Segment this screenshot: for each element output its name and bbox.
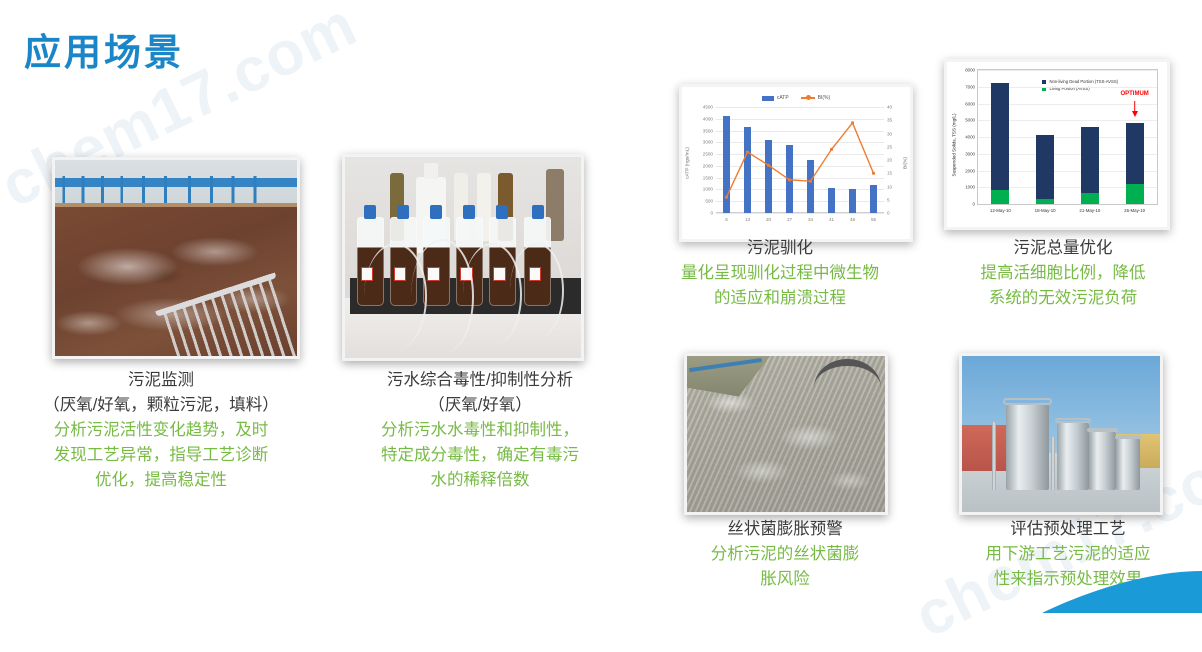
chart-catp-bi-legend: cATP BI(%) [682, 92, 910, 104]
y2-tick-label: 35 [887, 118, 892, 123]
y2-tick-label: 5 [887, 197, 890, 202]
photo-industrial-silos [959, 353, 1163, 515]
y-tick-label: 4500 [703, 105, 713, 110]
caption-sludge-monitoring: 污泥监测 （厌氧/好氧，颗粒污泥，填料） 分析污泥活性变化趋势，及时 发现工艺异… [2, 368, 320, 493]
line-marker [830, 148, 833, 151]
legend-swatch-dead-icon [1042, 80, 1046, 84]
vertical-pipe-1 [992, 422, 996, 491]
vertical-pipe-2 [1051, 437, 1055, 490]
y2-tick-label: 20 [887, 158, 892, 163]
caption-heading: 污泥总量优化 [930, 236, 1196, 261]
chart-catp-bi-canvas: cATP BI(%) cATP (ngu/mL) BI(%) 050010001… [682, 87, 910, 239]
silo-tank-3 [1089, 431, 1117, 490]
caption-subheading: （厌氧/好氧，颗粒污泥，填料） [2, 393, 320, 418]
silo-tank-1 [1006, 403, 1050, 490]
line-marker [851, 121, 854, 124]
chart-catp-bi-y2label: BI(%) [904, 157, 909, 169]
line-marker [725, 196, 728, 199]
y2-tick-label: 25 [887, 144, 892, 149]
x-tick-label: 20 [766, 217, 771, 222]
x-tick-label: 6 [725, 217, 728, 222]
chart-tss-legend: Non-living Dead Portion (TSS-AVSS) Livin… [1042, 79, 1118, 92]
bar-segment-dead [1081, 127, 1099, 193]
optimum-arrow-icon [1132, 111, 1138, 117]
caption-desc-line-1: 分析污泥的丝状菌膨 [660, 542, 910, 567]
x-tick-label: 26-May-10 [1124, 208, 1145, 213]
chart-tss-plot: Non-living Dead Portion (TSS-AVSS) Livin… [977, 69, 1158, 205]
line-marker [788, 178, 791, 181]
y-tick-label: 6000 [965, 101, 975, 106]
caption-desc-line-1: 量化呈现驯化过程中微生物 [630, 261, 930, 286]
caption-heading: 污泥驯化 [630, 236, 930, 261]
chart-tss-stacked: Suspended Solids, TSS (mg/L) Non-living … [944, 59, 1170, 230]
stacked-bar [1081, 127, 1099, 204]
photo-aeration-tank [52, 157, 300, 359]
caption-desc-line-2: 特定成分毒性，确定有毒污 [322, 443, 638, 468]
y2-tick-label: 15 [887, 171, 892, 176]
y-tick-label: 2000 [965, 168, 975, 173]
caption-subheading: （厌氧/好氧） [322, 393, 638, 418]
chart-tss-ylabel: Suspended Solids, TSS (mg/L) [952, 113, 957, 176]
caption-desc-line-2: 的适应和崩溃过程 [630, 286, 930, 311]
swoosh-shape [1042, 571, 1202, 613]
legend-swatch-bar-icon [762, 96, 774, 101]
chart-catp-bi: cATP BI(%) cATP (ngu/mL) BI(%) 050010001… [679, 84, 913, 242]
industrial-silos-scene [962, 356, 1160, 512]
x-tick-label: 27 [787, 217, 792, 222]
y2-tick-label: 0 [887, 211, 890, 216]
stacked-bar [1126, 123, 1144, 204]
page-title: 应用场景 [24, 22, 184, 76]
optimum-annotation-label: OPTIMUM [1120, 91, 1148, 97]
line-marker [767, 164, 770, 167]
caption-heading: 污水综合毒性/抑制性分析 [322, 368, 638, 393]
legend-swatch-line-icon [801, 97, 815, 99]
caption-desc-line-3: 优化，提高稳定性 [2, 468, 320, 493]
y-tick-label: 1500 [703, 175, 713, 180]
x-tick-label: 55 [871, 217, 876, 222]
y-tick-label: 4000 [703, 116, 713, 121]
bar-segment-dead [991, 83, 1009, 190]
caption-heading: 评估预处理工艺 [940, 517, 1196, 542]
y2-tick-label: 30 [887, 131, 892, 136]
bar-segment-living [1036, 199, 1054, 204]
caption-heading: 丝状菌膨胀预警 [660, 517, 910, 542]
y-tick-label: 1000 [965, 185, 975, 190]
bar-segment-living [1126, 184, 1144, 204]
legend-item-bi: BI(%) [801, 95, 831, 101]
y2-tick-label: 10 [887, 184, 892, 189]
bar-segment-living [991, 190, 1009, 204]
aeration-tank-scene [55, 160, 297, 356]
silo-tank-2 [1057, 422, 1089, 491]
photo-foam-tank [684, 353, 888, 515]
y-tick-label: 0 [710, 211, 713, 216]
y-tick-label: 4000 [965, 135, 975, 140]
legend-label-bi: BI(%) [818, 95, 831, 101]
y-tick-label: 0 [973, 202, 975, 207]
x-tick-label: 21-May-10 [1079, 208, 1100, 213]
chart-catp-bi-plot: 0500100015002000250030003500400045000510… [716, 107, 884, 213]
x-tick-label: 12-May-10 [990, 208, 1011, 213]
silo-tank-4 [1116, 437, 1140, 490]
caption-desc-line-1: 提高活细胞比例，降低 [930, 261, 1196, 286]
chart-catp-bi-ylabel: cATP (ngu/mL) [686, 147, 691, 179]
caption-desc-line-3: 水的稀释倍数 [322, 468, 638, 493]
caption-sludge-acclimation: 污泥驯化 量化呈现驯化过程中微生物 的适应和崩溃过程 [630, 236, 930, 311]
gridline [716, 213, 884, 214]
caption-heading: 污泥监测 [2, 368, 320, 393]
caption-desc-line-1: 分析污泥活性变化趋势，及时 [2, 418, 320, 443]
x-tick-label: 41 [829, 217, 834, 222]
foam-tank-scene [687, 356, 885, 512]
x-tick-label: 18-May-10 [1035, 208, 1056, 213]
caption-desc-line-2: 系统的无效污泥负荷 [930, 286, 1196, 311]
y-tick-label: 3000 [965, 151, 975, 156]
bar-segment-living [1081, 193, 1099, 204]
y-tick-label: 1000 [703, 187, 713, 192]
y-tick-label: 500 [705, 199, 713, 204]
gridline [978, 70, 1157, 71]
caption-sludge-total-optimization: 污泥总量优化 提高活细胞比例，降低 系统的无效污泥负荷 [930, 236, 1196, 311]
photo-lab-bottles [342, 154, 584, 361]
y-tick-label: 3000 [703, 140, 713, 145]
y-tick-label: 5000 [965, 118, 975, 123]
line-marker [746, 150, 749, 153]
lab-bench-scene [345, 157, 581, 358]
caption-desc-line-1: 分析污水水毒性和抑制性， [322, 418, 638, 443]
caption-filamentous-bulking: 丝状菌膨胀预警 分析污泥的丝状菌膨 胀风险 [660, 517, 910, 592]
line-marker [872, 172, 875, 175]
corner-swoosh-decoration [1032, 543, 1202, 613]
line-series [716, 107, 884, 213]
bar-segment-dead [1126, 123, 1144, 184]
legend-label-catp: cATP [777, 95, 789, 101]
x-tick-label: 34 [808, 217, 813, 222]
x-tick-label: 48 [850, 217, 855, 222]
x-tick-label: 13 [745, 217, 750, 222]
stacked-bar [1036, 135, 1054, 204]
y-tick-label: 8000 [965, 68, 975, 73]
line-path [727, 123, 874, 197]
caption-desc-line-2: 胀风险 [660, 567, 910, 592]
y-tick-label: 2000 [703, 163, 713, 168]
y-tick-label: 3500 [703, 128, 713, 133]
y-tick-label: 7000 [965, 84, 975, 89]
chart-tss-stacked-canvas: Suspended Solids, TSS (mg/L) Non-living … [947, 62, 1167, 227]
y2-tick-label: 40 [887, 105, 892, 110]
gas-tube-4 [510, 243, 564, 337]
y-tick-label: 2500 [703, 152, 713, 157]
caption-desc-line-2: 发现工艺异常，指导工艺诊断 [2, 443, 320, 468]
caption-wastewater-toxicity: 污水综合毒性/抑制性分析 （厌氧/好氧） 分析污水水毒性和抑制性， 特定成分毒性… [322, 368, 638, 493]
legend-item-catp: cATP [762, 95, 789, 101]
stacked-bar [991, 83, 1009, 204]
bar-segment-dead [1036, 135, 1054, 199]
line-marker [809, 180, 812, 183]
